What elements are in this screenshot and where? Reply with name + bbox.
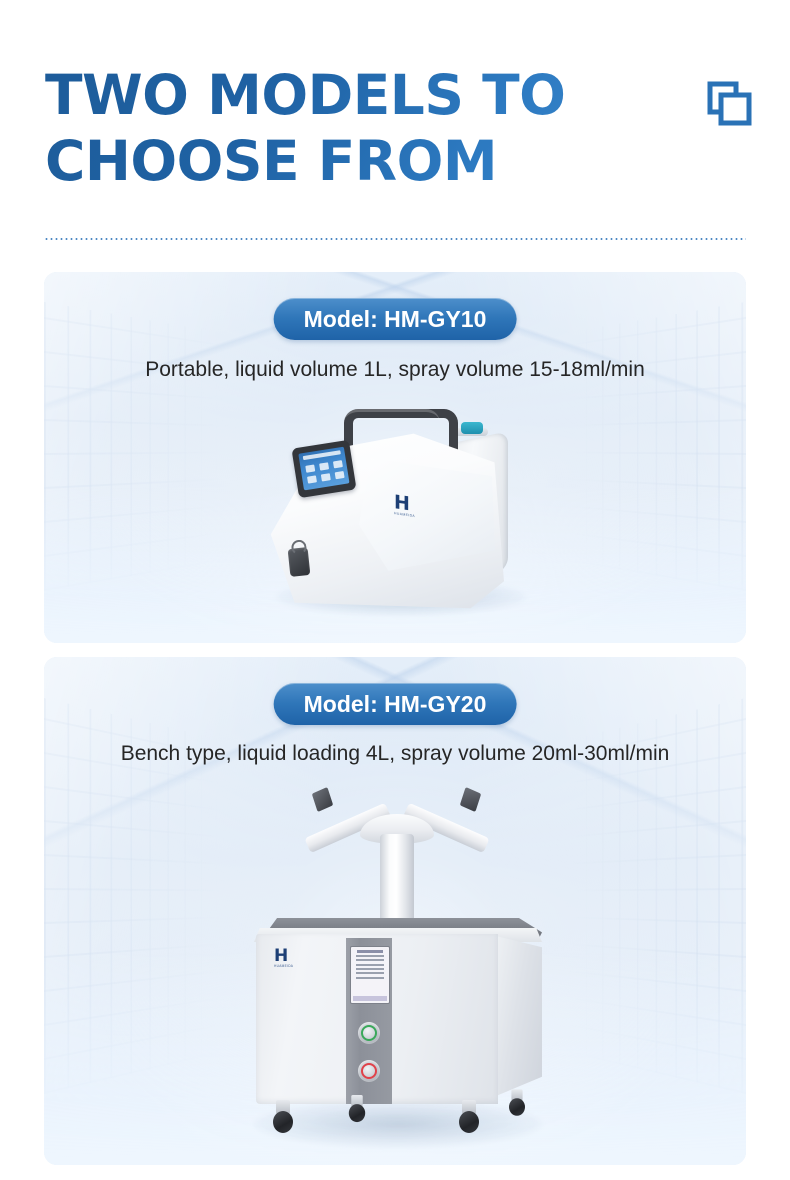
lcd-text-line xyxy=(356,977,384,979)
model-description-hm-gy10: Portable, liquid volume 1L, spray volume… xyxy=(0,358,790,382)
page-title: TWO MODELS TO CHOOSE FROM xyxy=(45,62,665,194)
product-models-page: TWO MODELS TO CHOOSE FROM Model: HM-GY10… xyxy=(0,0,790,1180)
lcd-header-line xyxy=(357,950,383,953)
start-button-ring xyxy=(361,1025,377,1041)
power-socket xyxy=(288,547,311,577)
model-badge-hm-gy20[interactable]: Model: HM-GY20 xyxy=(274,683,517,725)
product-image-hm-gy10: H HUAMEIDA xyxy=(258,400,548,635)
caster-wheel xyxy=(272,1100,294,1134)
start-button[interactable] xyxy=(358,1022,380,1044)
touch-screen-display xyxy=(298,447,349,491)
caster-wheel xyxy=(508,1089,526,1116)
cabinet-side-panel xyxy=(496,936,542,1096)
product-image-hm-gy20: H HUAMEIDA xyxy=(248,778,548,1160)
product-shadow xyxy=(254,1100,542,1148)
lcd-panel[interactable] xyxy=(350,946,390,1004)
lcd-text-line xyxy=(356,968,384,970)
caster-wheel xyxy=(348,1095,366,1123)
copy-duplicate-icon xyxy=(706,78,758,130)
brand-logo: H HUAMEIDA xyxy=(394,494,420,522)
model-badge-hm-gy10[interactable]: Model: HM-GY10 xyxy=(274,298,517,340)
caster-tire xyxy=(509,1098,525,1116)
lcd-footer-bar xyxy=(353,996,387,1001)
caster-tire xyxy=(273,1111,293,1133)
touch-screen[interactable] xyxy=(291,440,356,498)
page-title-line-1: TWO MODELS TO xyxy=(45,62,665,128)
caster-wheel xyxy=(458,1100,480,1134)
stop-button[interactable] xyxy=(358,1060,380,1082)
lcd-text-line xyxy=(356,955,384,957)
nozzle-column xyxy=(380,834,414,926)
spray-nozzle-right-icon xyxy=(460,787,481,812)
lcd-text-line xyxy=(356,972,384,974)
model-description-hm-gy20: Bench type, liquid loading 4L, spray vol… xyxy=(0,742,790,766)
page-title-line-2: CHOOSE FROM xyxy=(45,128,665,194)
brand-logo-letter: H xyxy=(274,948,300,964)
control-panel-strip xyxy=(346,938,392,1104)
lcd-text-line xyxy=(356,964,384,966)
lcd-text-line xyxy=(356,959,384,961)
caster-tire xyxy=(459,1111,479,1133)
header-divider xyxy=(44,238,746,240)
spray-nozzle-icon xyxy=(461,422,483,434)
brand-logo-subtext: HUAMEIDA xyxy=(274,964,300,968)
spray-nozzle-left-icon xyxy=(312,787,333,812)
stop-button-ring xyxy=(361,1063,377,1079)
brand-logo: H HUAMEIDA xyxy=(274,948,300,970)
page-header: TWO MODELS TO CHOOSE FROM xyxy=(0,0,790,240)
caster-tire xyxy=(349,1104,365,1122)
